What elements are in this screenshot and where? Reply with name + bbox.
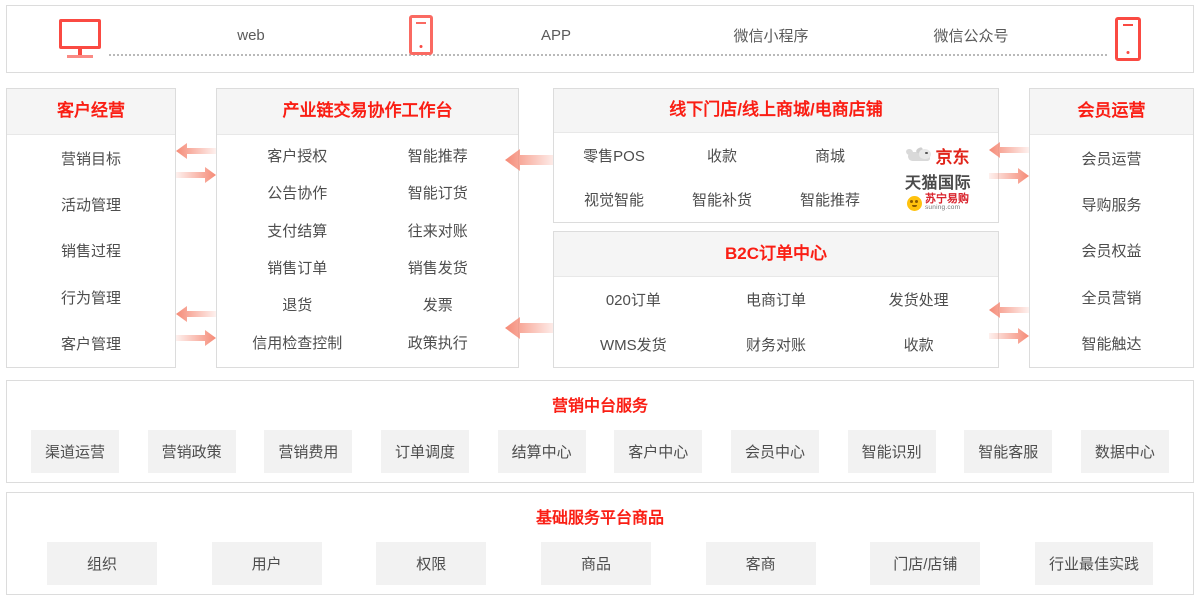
- cell-wms-shipment[interactable]: WMS发货: [600, 334, 667, 355]
- cell-customer-mgmt[interactable]: 客户管理: [61, 333, 121, 354]
- panel-industry-chain-workbench: 产业链交易协作工作台 客户授权 智能推荐 公告协作 智能订货 支付结算 往来对账…: [216, 88, 519, 368]
- cell-member-benefits[interactable]: 会员权益: [1081, 240, 1141, 261]
- suning-logo: 苏宁易购 suning.com: [907, 194, 969, 212]
- chip-user[interactable]: 用户: [212, 542, 322, 585]
- jd-logo: 京东: [906, 143, 969, 168]
- chip-smart-service[interactable]: 智能客服: [964, 430, 1052, 473]
- channel-bar: web APP 微信小程序 微信公众号: [6, 5, 1194, 73]
- suning-lion-icon: [907, 196, 922, 211]
- cell-sales-process[interactable]: 销售过程: [61, 240, 121, 261]
- cell-sales-order[interactable]: 销售订单: [267, 257, 327, 278]
- band-marketing-middle-platform: 营销中台服务 渠道运营 营销政策 营销费用 订单调度 结算中心 客户中心 会员中…: [6, 380, 1194, 483]
- chip-settlement-center[interactable]: 结算中心: [498, 430, 586, 473]
- panel-chain-header: 产业链交易协作工作台: [217, 89, 518, 135]
- cell-mall[interactable]: 商城: [815, 145, 845, 166]
- panel-member-header: 会员运营: [1030, 89, 1193, 135]
- cell-invoice[interactable]: 发票: [423, 294, 453, 315]
- arrow-pair-store-member: [989, 140, 1029, 188]
- arrow-pair-b2c-member: [989, 300, 1029, 348]
- chip-store-shop[interactable]: 门店/店铺: [870, 542, 980, 585]
- cell-smart-replenish[interactable]: 智能补货: [692, 189, 752, 210]
- chip-data-center[interactable]: 数据中心: [1081, 430, 1169, 473]
- arrow-b2c-to-chain: [505, 315, 557, 341]
- cell-customer-authorization[interactable]: 客户授权: [267, 145, 327, 166]
- arrow-store-to-chain: [505, 147, 557, 173]
- cell-retail-pos[interactable]: 零售POS: [583, 145, 645, 166]
- panel-store-items: 零售POS 收款 商城 京东 天猫国际 苏宁易购 suning.com: [554, 133, 998, 222]
- chip-permission[interactable]: 权限: [376, 542, 486, 585]
- band-base-title: 基础服务平台商品: [7, 504, 1193, 528]
- panel-member-operation: 会员运营 会员运营 导购服务 会员权益 全员营销 智能触达: [1029, 88, 1194, 368]
- cell-b2c-collect-payment[interactable]: 收款: [904, 334, 934, 355]
- chip-marketing-policy[interactable]: 营销政策: [148, 430, 236, 473]
- channel-label-list: web APP 微信小程序 微信公众号: [101, 15, 1115, 55]
- panel-store-header: 线下门店/线上商城/电商店铺: [554, 89, 998, 133]
- cell-behavior-mgmt[interactable]: 行为管理: [61, 287, 121, 308]
- tablet-icon: [409, 15, 433, 55]
- cell-guide-service[interactable]: 导购服务: [1081, 194, 1141, 215]
- panel-b2c-items: 020订单 电商订单 发货处理 WMS发货 财务对账 收款: [554, 277, 998, 367]
- mobile-phone-icon: [1115, 17, 1141, 61]
- desktop-monitor-icon: [59, 19, 101, 59]
- cell-sales-shipment[interactable]: 销售发货: [408, 257, 468, 278]
- band-base-service-platform: 基础服务平台商品 组织 用户 权限 商品 客商 门店/店铺 行业最佳实践: [6, 492, 1194, 595]
- panel-customer-header: 客户经营: [7, 89, 175, 135]
- jd-dog-icon: [906, 148, 932, 164]
- panel-store-mall-ecommerce: 线下门店/线上商城/电商店铺 零售POS 收款 商城 京东 天猫国际 苏宁易购 …: [553, 88, 999, 223]
- cell-visual-ai[interactable]: 视觉智能: [584, 189, 644, 210]
- channel-label-official-account: 微信公众号: [871, 25, 1071, 46]
- cell-marketing-goal[interactable]: 营销目标: [61, 148, 121, 169]
- chip-channel-operation[interactable]: 渠道运营: [31, 430, 119, 473]
- cell-collect-payment[interactable]: 收款: [707, 145, 737, 166]
- cell-member-operation[interactable]: 会员运营: [1081, 148, 1141, 169]
- channel-track: web APP 微信小程序 微信公众号: [101, 13, 1115, 65]
- panel-b2c-header: B2C订单中心: [554, 232, 998, 277]
- channel-label-web: web: [101, 27, 401, 44]
- cell-announcement-collab[interactable]: 公告协作: [267, 182, 327, 203]
- panel-customer-management: 客户经营 营销目标 活动管理 销售过程 行为管理 客户管理: [6, 88, 176, 368]
- chip-organization[interactable]: 组织: [47, 542, 157, 585]
- cell-shipment-process[interactable]: 发货处理: [889, 289, 949, 310]
- suning-logo-domain: suning.com: [925, 205, 969, 212]
- cell-account-reconciliation[interactable]: 往来对账: [408, 220, 468, 241]
- cell-o2o-order[interactable]: 020订单: [606, 289, 661, 310]
- band-marketing-chips: 渠道运营 营销政策 营销费用 订单调度 结算中心 客户中心 会员中心 智能识别 …: [7, 430, 1193, 473]
- band-base-chips: 组织 用户 权限 商品 客商 门店/店铺 行业最佳实践: [7, 542, 1193, 585]
- panel-customer-items: 营销目标 活动管理 销售过程 行为管理 客户管理: [7, 135, 175, 367]
- cell-activity-mgmt[interactable]: 活动管理: [61, 194, 121, 215]
- arrow-pair-customer-chain-bottom: [176, 305, 216, 349]
- ecommerce-platform-logos: 京东 天猫国际 苏宁易购 suning.com: [905, 143, 971, 212]
- cell-all-staff-marketing[interactable]: 全员营销: [1081, 287, 1141, 308]
- cell-ecommerce-order[interactable]: 电商订单: [746, 289, 806, 310]
- chip-customer-center[interactable]: 客户中心: [614, 430, 702, 473]
- cell-smart-ordering[interactable]: 智能订货: [408, 182, 468, 203]
- channel-label-miniprogram: 微信小程序: [671, 25, 871, 46]
- channel-label-app: APP: [441, 27, 671, 44]
- panel-b2c-order-center: B2C订单中心 020订单 电商订单 发货处理 WMS发货 财务对账 收款: [553, 231, 999, 368]
- chip-marketing-expense[interactable]: 营销费用: [264, 430, 352, 473]
- chip-best-practice[interactable]: 行业最佳实践: [1035, 542, 1153, 585]
- cell-finance-reconcile[interactable]: 财务对账: [746, 334, 806, 355]
- cell-policy-execution[interactable]: 政策执行: [408, 332, 468, 353]
- arrow-pair-customer-chain-top: [176, 142, 216, 186]
- jd-logo-text: 京东: [935, 143, 969, 168]
- chip-product[interactable]: 商品: [541, 542, 651, 585]
- cell-store-smart-recommend[interactable]: 智能推荐: [800, 189, 860, 210]
- chip-order-scheduling[interactable]: 订单调度: [381, 430, 469, 473]
- panel-chain-items: 客户授权 智能推荐 公告协作 智能订货 支付结算 往来对账 销售订单 销售发货 …: [217, 135, 518, 367]
- panel-member-items: 会员运营 导购服务 会员权益 全员营销 智能触达: [1030, 135, 1193, 367]
- chip-smart-recognition[interactable]: 智能识别: [848, 430, 936, 473]
- tmall-global-logo-text: 天猫国际: [905, 169, 971, 193]
- cell-payment-settlement[interactable]: 支付结算: [267, 220, 327, 241]
- chip-member-center[interactable]: 会员中心: [731, 430, 819, 473]
- cell-smart-recommend[interactable]: 智能推荐: [408, 145, 468, 166]
- cell-return-goods[interactable]: 退货: [282, 294, 312, 315]
- cell-credit-check-control[interactable]: 信用检查控制: [252, 332, 342, 353]
- cell-smart-reach[interactable]: 智能触达: [1081, 333, 1141, 354]
- architecture-diagram: web APP 微信小程序 微信公众号 客户经营 营销目标 活动管理 销售过程 …: [0, 0, 1200, 601]
- band-marketing-title: 营销中台服务: [7, 392, 1193, 416]
- chip-merchant[interactable]: 客商: [706, 542, 816, 585]
